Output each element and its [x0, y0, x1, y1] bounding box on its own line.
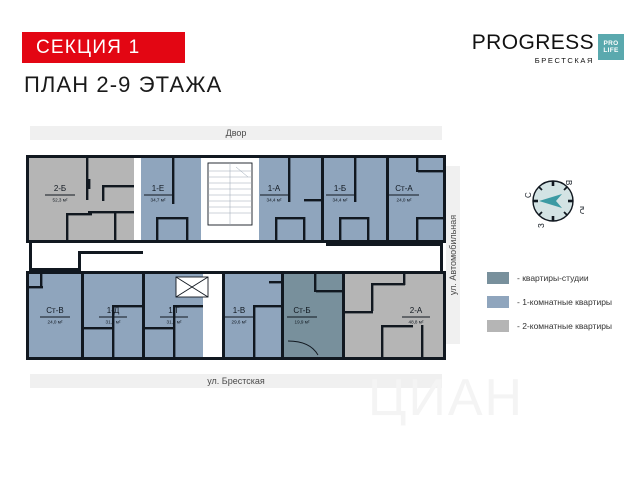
- legend-swatch-one-room: [487, 296, 509, 308]
- logo-text: PROGRESS БРЕСТСКАЯ: [472, 32, 598, 65]
- brand-logo: PROGRESS БРЕСТСКАЯ PRO LIFE: [472, 32, 624, 65]
- compass-north-label: С: [524, 192, 533, 198]
- unit-area-1g: 31,9 м²: [167, 320, 182, 325]
- legend-item-studio: - квартиры-студии: [487, 272, 637, 284]
- street-label-avtomobilnaya: ул. Автомобильная: [446, 166, 460, 344]
- compass-rose: В С Ю З: [522, 170, 584, 232]
- page-title: ПЛАН 2-9 ЭТАЖА: [24, 72, 222, 98]
- compass-east-label: В: [564, 180, 573, 185]
- floor-plan-drawing: .w { fill:#111820; } .stu { fill:#78909c…: [26, 155, 446, 360]
- unit-area-1e: 34,7 м²: [151, 198, 166, 203]
- unit-area-stb: 19,9 м²: [295, 320, 310, 325]
- legend-label-two-room: - 2-комнатные квартиры: [517, 321, 612, 331]
- unit-label-1d: 1-Д: [107, 306, 120, 315]
- watermark: ЦИАН: [368, 372, 524, 424]
- prolife-badge-line2: LIFE: [603, 47, 618, 55]
- unit-label-2b: 2-Б: [54, 184, 66, 193]
- logo-main-label: PROGRESS: [472, 32, 594, 53]
- unit-label-2a: 2-А: [410, 306, 423, 315]
- legend-label-studio: - квартиры-студии: [517, 273, 589, 283]
- legend: - квартиры-студии - 1-комнатные квартиры…: [487, 272, 637, 344]
- unit-label-stb: Ст-Б: [293, 306, 310, 315]
- unit-label-1v: 1-В: [233, 306, 245, 315]
- compass-west-label: З: [537, 223, 546, 228]
- prolife-badge-line1: PRO: [604, 40, 619, 48]
- prolife-badge: PRO LIFE: [598, 34, 624, 60]
- legend-swatch-two-room: [487, 320, 509, 332]
- street-label-courtyard: Двор: [30, 126, 442, 140]
- section-badge: СЕКЦИЯ 1: [22, 32, 185, 63]
- unit-area-2b: 52,3 м²: [53, 198, 68, 203]
- street-top-text: Двор: [226, 128, 247, 138]
- compass-south-label: Ю: [578, 206, 584, 214]
- logo-sub-label: БРЕСТСКАЯ: [535, 56, 594, 65]
- unit-area-stv: 24,0 м²: [48, 320, 63, 325]
- unit-area-2a: 48,8 м²: [409, 320, 424, 325]
- street-right-text: ул. Автомобильная: [448, 215, 458, 295]
- unit-area-sta: 24,0 м²: [397, 198, 412, 203]
- unit-label-stv: Ст-В: [46, 306, 63, 315]
- unit-area-1a: 34,4 м²: [267, 198, 282, 203]
- legend-item-two-room: - 2-комнатные квартиры: [487, 320, 637, 332]
- floorplan-page: СЕКЦИЯ 1 ПЛАН 2-9 ЭТАЖА PROGRESS БРЕСТСК…: [0, 0, 640, 480]
- section-badge-label: СЕКЦИЯ 1: [22, 37, 140, 59]
- unit-area-1v: 29,6 м²: [232, 320, 247, 325]
- unit-label-1b: 1-Б: [334, 184, 346, 193]
- unit-area-1b: 34,4 м²: [333, 198, 348, 203]
- legend-item-one-room: - 1-комнатные квартиры: [487, 296, 637, 308]
- street-bottom-text: ул. Брестская: [207, 376, 265, 386]
- unit-label-1e: 1-Е: [152, 184, 164, 193]
- unit-area-1d: 31,9 м²: [106, 320, 121, 325]
- unit-label-sta: Ст-А: [395, 184, 413, 193]
- legend-swatch-studio: [487, 272, 509, 284]
- unit-label-1g: 1-Г: [168, 306, 180, 315]
- unit-label-1a: 1-А: [268, 184, 281, 193]
- legend-label-one-room: - 1-комнатные квартиры: [517, 297, 612, 307]
